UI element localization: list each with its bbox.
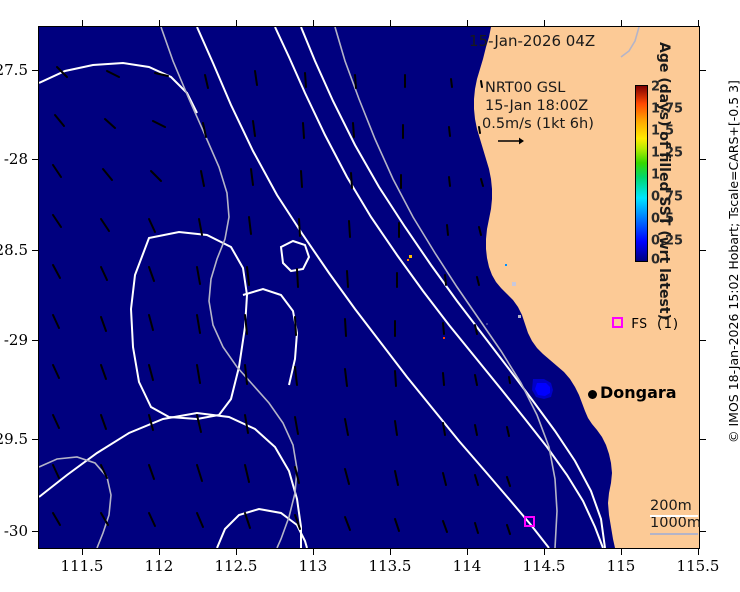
y-tick-label: -30 [0,522,28,540]
reference-arrow-icon [498,136,524,146]
x-tick-label: 113.5 [369,557,412,575]
y-tick-label: -27.5 [0,61,28,79]
x-tick-label: 114.5 [523,557,566,575]
model-name-label: NRT00 GSL [485,80,565,96]
y-tick-label: -29.5 [0,430,28,448]
vector-scale-label: 0.5m/s (1kt 6h) [482,116,594,132]
x-tick-label: 114 [453,557,482,575]
x-tick-label: 115.5 [677,557,720,575]
map-plot-area[interactable] [38,26,700,549]
fs-station-marker[interactable] [612,317,623,328]
x-tick-label: 112 [145,557,174,575]
sst-age-map-figure: 111.5 112 112.5 113 113.5 114 114.5 115 … [0,0,740,592]
model-time-label: 15-Jan 18:00Z [485,98,588,114]
x-tick-label: 111.5 [61,557,104,575]
depth-key-rule-200m [650,515,698,517]
x-tick-label: 113 [299,557,328,575]
y-tick-label: -28.5 [0,241,28,259]
dongara-marker-dot [588,390,597,399]
dongara-label: Dongara [600,383,677,402]
depth-key-200m: 200m [650,498,701,515]
timestamp-label: 15-Jan-2026 04Z [469,32,595,50]
map-canvas [39,27,699,548]
depth-key-1000m: 1000m [650,515,701,532]
colorbar-gradient[interactable] [635,85,648,262]
depth-key-rule-1000m [650,533,698,535]
y-tick-label: -29 [0,331,28,349]
colorbar-title: Age (days) of filled SST (wrt latest) [656,42,672,302]
x-tick-label: 112.5 [215,557,258,575]
y-tick-label: -28 [0,150,28,168]
credit-text: © IMOS 18-Jan-2026 15:02 Hobart; Tscale=… [726,113,740,443]
x-tick-label: 115 [607,557,636,575]
fs-station-marker-south[interactable] [524,516,535,527]
